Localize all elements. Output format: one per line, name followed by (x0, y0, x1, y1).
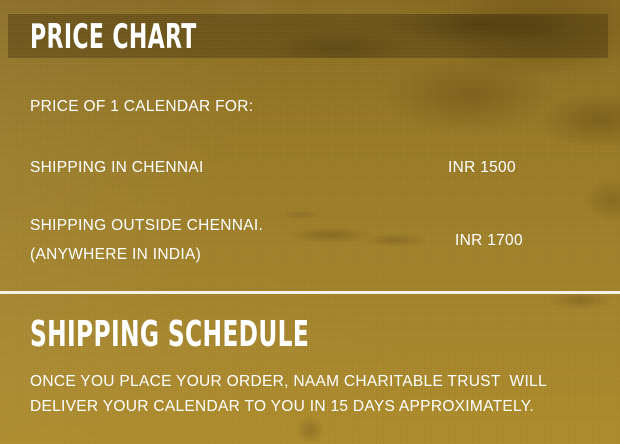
price-row-label-chennai: SHIPPING IN CHENNAI (30, 159, 204, 177)
price-row-value-outside-chennai: INR 1700 (455, 232, 523, 250)
shipping-schedule-body-line-1: ONCE YOU PLACE YOUR ORDER, NAAM CHARITAB… (30, 373, 547, 391)
price-row-label-outside-chennai: SHIPPING OUTSIDE CHENNAI. (30, 217, 263, 235)
shipping-schedule-body-line-2: DELIVER YOUR CALENDAR TO YOU IN 15 DAYS … (30, 398, 534, 416)
price-intro-label: PRICE OF 1 CALENDAR FOR: (30, 98, 253, 116)
shipping-schedule-title: SHIPPING SCHEDULE (30, 317, 309, 353)
price-row-label-outside-chennai-sub: (ANYWHERE IN INDIA) (30, 246, 201, 264)
price-chart-page: PRICE CHART PRICE OF 1 CALENDAR FOR: SHI… (0, 0, 620, 444)
section-divider (0, 291, 620, 294)
page-title: PRICE CHART (30, 20, 197, 54)
price-row-value-chennai: INR 1500 (448, 159, 516, 177)
